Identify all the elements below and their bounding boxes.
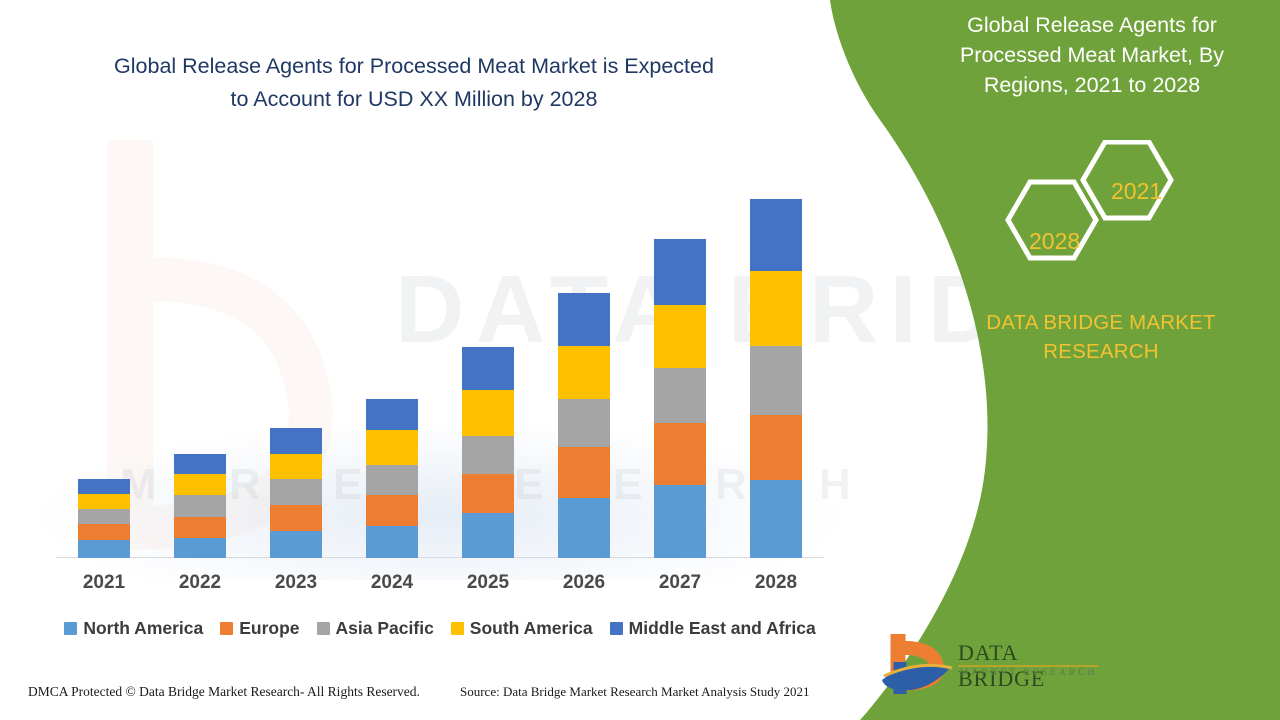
x-tick-2025: 2025 <box>440 572 536 594</box>
bar-segment-asia-pacific <box>558 399 610 447</box>
bar-segment-south-america <box>366 430 418 465</box>
legend-swatch-icon <box>451 622 464 635</box>
bar-2026 <box>558 293 610 558</box>
bar-segment-asia-pacific <box>270 479 322 505</box>
bar-segment-north-america <box>78 540 130 558</box>
bar-segment-north-america <box>654 485 706 558</box>
hexagon-graphic: 2021 2028 <box>980 140 1210 285</box>
legend-swatch-icon <box>220 622 233 635</box>
green-side-panel: Global Release Agents for Processed Meat… <box>820 0 1280 720</box>
chart-title: Global Release Agents for Processed Meat… <box>56 50 772 116</box>
bar-2025 <box>462 347 514 558</box>
bar-segment-middle-east-and-africa <box>462 347 514 390</box>
bar-segment-middle-east-and-africa <box>558 293 610 346</box>
bar-segment-north-america <box>462 513 514 558</box>
bar-segment-north-america <box>558 498 610 558</box>
hexagon-outlines-icon <box>980 140 1210 285</box>
bar-segment-europe <box>558 447 610 499</box>
bar-2021 <box>78 479 130 558</box>
bar-segment-europe <box>654 423 706 486</box>
legend-label: South America <box>470 618 593 639</box>
bar-segment-europe <box>78 524 130 540</box>
legend-label: Middle East and Africa <box>629 618 816 639</box>
green-panel-title-line-3: Regions, 2021 to 2028 <box>932 70 1252 100</box>
bar-segment-europe <box>174 517 226 538</box>
hexagon-label-2021: 2021 <box>1111 178 1162 205</box>
green-panel-title: Global Release Agents for Processed Meat… <box>932 10 1252 100</box>
bar-segment-middle-east-and-africa <box>174 454 226 475</box>
logo-divider <box>958 665 1098 667</box>
bar-2023 <box>270 428 322 558</box>
legend-item-europe[interactable]: Europe <box>220 618 299 639</box>
bar-segment-south-america <box>78 494 130 509</box>
green-panel-brand-line-2: RESEARCH <box>946 337 1256 366</box>
x-tick-2027: 2027 <box>632 572 728 594</box>
bar-segment-asia-pacific <box>366 465 418 496</box>
legend-swatch-icon <box>64 622 77 635</box>
footer-copyright: DMCA Protected © Data Bridge Market Rese… <box>28 684 420 700</box>
chart-panel: Global Release Agents for Processed Meat… <box>0 0 850 720</box>
data-bridge-mark-icon <box>880 632 958 698</box>
chart-title-line-2: to Account for USD XX Million by 2028 <box>56 83 772 116</box>
legend-label: North America <box>83 618 203 639</box>
legend-item-middle-east-and-africa[interactable]: Middle East and Africa <box>610 618 816 639</box>
bar-segment-north-america <box>270 531 322 558</box>
logo-tagline: MARKET RESEARCH <box>960 668 1098 678</box>
legend-label: Asia Pacific <box>336 618 434 639</box>
bar-segment-europe <box>366 495 418 526</box>
legend-swatch-icon <box>610 622 623 635</box>
bar-segment-middle-east-and-africa <box>750 199 802 271</box>
bar-segment-middle-east-and-africa <box>78 479 130 494</box>
x-tick-2021: 2021 <box>56 572 152 594</box>
green-panel-title-line-2: Processed Meat Market, By <box>932 40 1252 70</box>
legend-item-south-america[interactable]: South America <box>451 618 593 639</box>
bar-segment-south-america <box>654 305 706 368</box>
legend-label: Europe <box>239 618 299 639</box>
x-tick-2023: 2023 <box>248 572 344 594</box>
bar-segment-south-america <box>270 454 322 480</box>
bar-segment-asia-pacific <box>750 346 802 415</box>
bar-segment-europe <box>270 505 322 531</box>
bar-2024 <box>366 399 418 558</box>
data-bridge-logo: DATA BRIDGE MARKET RESEARCH <box>880 632 1110 704</box>
footer-source: Source: Data Bridge Market Research Mark… <box>460 684 809 700</box>
bar-segment-north-america <box>750 480 802 558</box>
bar-2027 <box>654 239 706 558</box>
bar-segment-south-america <box>462 390 514 436</box>
bar-segment-asia-pacific <box>78 509 130 524</box>
x-axis-tick-labels: 20212022202320242025202620272028 <box>56 572 824 600</box>
x-tick-2024: 2024 <box>344 572 440 594</box>
chart-title-line-1: Global Release Agents for Processed Meat… <box>56 50 772 83</box>
legend-swatch-icon <box>317 622 330 635</box>
bar-segment-middle-east-and-africa <box>654 239 706 306</box>
green-panel-brand-line-1: DATA BRIDGE MARKET <box>946 308 1256 337</box>
bar-segment-south-america <box>750 271 802 347</box>
green-panel-brand: DATA BRIDGE MARKET RESEARCH <box>946 308 1256 366</box>
x-tick-2028: 2028 <box>728 572 824 594</box>
bar-segment-south-america <box>558 346 610 399</box>
green-panel-title-line-1: Global Release Agents for <box>932 10 1252 40</box>
bar-segment-asia-pacific <box>654 368 706 423</box>
bar-segment-south-america <box>174 474 226 495</box>
bar-segment-europe <box>750 415 802 481</box>
bar-segment-europe <box>462 474 514 513</box>
infographic-root: DATA BRIDGE MARKET RESEARCH Global Relea… <box>0 0 1280 720</box>
bar-segment-north-america <box>366 526 418 558</box>
chart-legend: North AmericaEuropeAsia PacificSouth Ame… <box>56 616 824 640</box>
bar-segment-asia-pacific <box>174 495 226 517</box>
legend-item-asia-pacific[interactable]: Asia Pacific <box>317 618 434 639</box>
bar-2022 <box>174 454 226 558</box>
bar-2028 <box>750 199 802 558</box>
bar-segment-asia-pacific <box>462 436 514 475</box>
bar-segment-middle-east-and-africa <box>270 428 322 454</box>
hexagon-label-2028: 2028 <box>1029 228 1080 255</box>
bar-segment-north-america <box>174 538 226 558</box>
bar-segment-middle-east-and-africa <box>366 399 418 430</box>
x-tick-2022: 2022 <box>152 572 248 594</box>
legend-item-north-america[interactable]: North America <box>64 618 203 639</box>
x-tick-2026: 2026 <box>536 572 632 594</box>
stacked-bar-series-group <box>56 170 824 558</box>
